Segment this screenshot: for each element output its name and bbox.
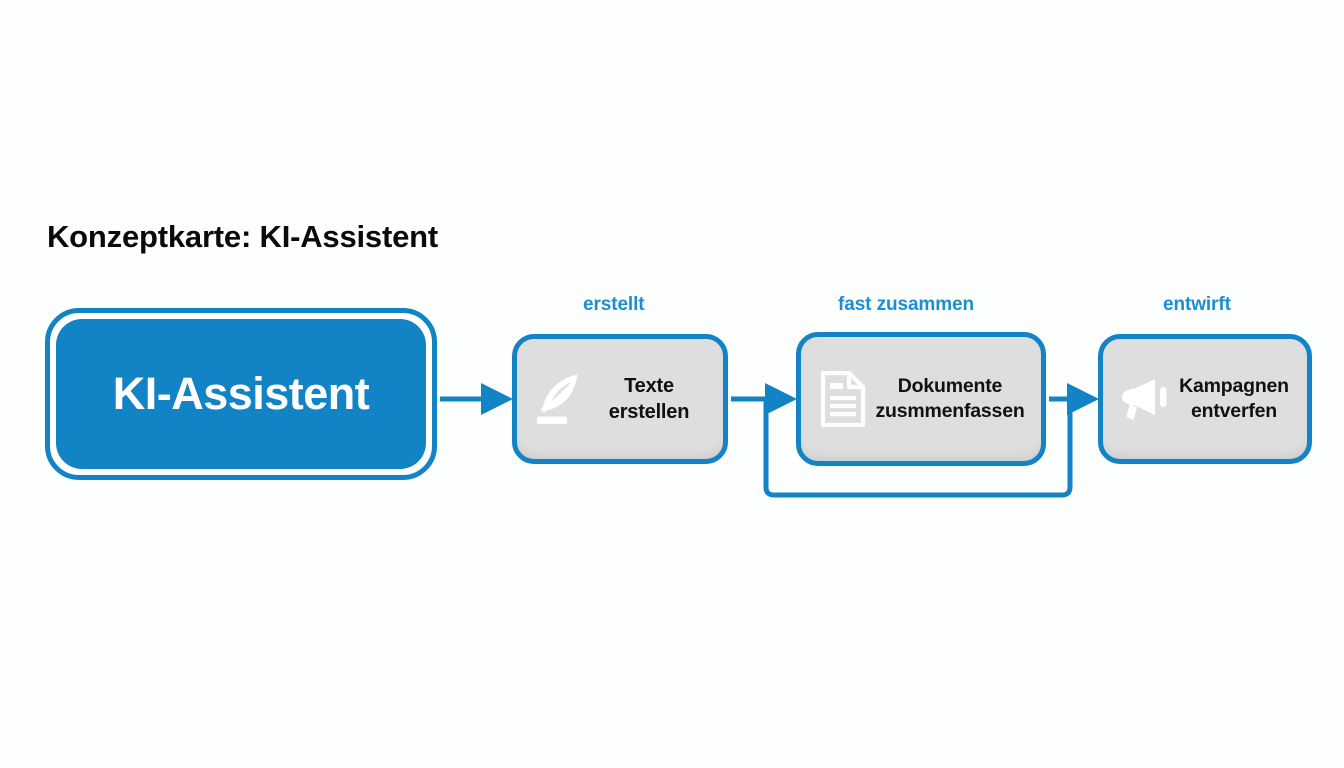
- node-label-line1: Kampagnen: [1179, 375, 1289, 397]
- edge-label-fast-zusammen: fast zusammen: [838, 294, 974, 316]
- node-dokumente-zusammenfassen[interactable]: Dokumente zusmmenfassen: [796, 332, 1046, 466]
- node-kampagnen-entwerfen[interactable]: Kampagnen entverfen: [1098, 334, 1312, 464]
- root-node-body: KI-Assistent: [56, 319, 426, 469]
- node-texte-erstellen[interactable]: Texte erstellen: [512, 334, 728, 464]
- feather-quill-icon: [531, 370, 587, 428]
- node-label-line2: zusmmenfassen: [871, 399, 1029, 424]
- node-label: Kampagnen entverfen: [1173, 374, 1295, 425]
- root-node[interactable]: KI-Assistent: [45, 308, 437, 480]
- megaphone-icon: [1117, 370, 1173, 428]
- concept-map-canvas: Konzeptkarte: KI-Assistent KI-Assistent …: [0, 0, 1344, 768]
- node-label-line1: Texte: [624, 375, 674, 397]
- node-label-line2: entverfen: [1173, 399, 1295, 424]
- root-node-label: KI-Assistent: [113, 368, 370, 420]
- node-label-line1: Dokumente: [898, 375, 1002, 397]
- edge-label-erstellt: erstellt: [583, 294, 645, 316]
- node-label-line2: erstellen: [587, 399, 711, 425]
- document-icon: [815, 370, 871, 428]
- node-label: Dokumente zusmmenfassen: [871, 374, 1029, 425]
- edge-label-entwirft: entwirft: [1163, 294, 1231, 316]
- node-label: Texte erstellen: [587, 373, 711, 425]
